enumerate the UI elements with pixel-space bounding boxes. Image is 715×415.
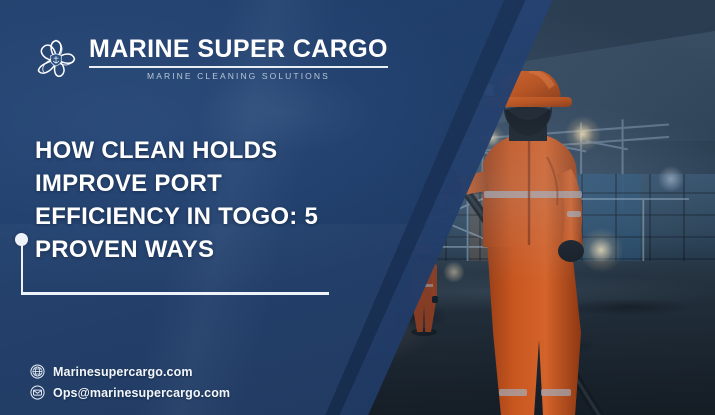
- accent-horizontal-line: [21, 292, 329, 295]
- envelope-icon: [30, 385, 45, 400]
- contact-email[interactable]: Ops@marinesupercargo.com: [30, 385, 230, 400]
- brand-name: MARINE SUPER CARGO: [89, 36, 388, 62]
- brand-underline: [89, 66, 388, 68]
- headline-line: HOW CLEAN HOLDS: [35, 134, 355, 167]
- banner-content: MARINE SUPER CARGO MARINE CLEANING SOLUT…: [0, 0, 715, 415]
- headline-line: PROVEN WAYS: [35, 233, 355, 266]
- contact-website[interactable]: Marinesupercargo.com: [30, 364, 230, 379]
- blog-header-banner: MARINE SUPER CARGO MARINE CLEANING SOLUT…: [0, 0, 715, 415]
- globe-icon: [30, 364, 45, 379]
- page-title: HOW CLEAN HOLDS IMPROVE PORT EFFICIENCY …: [35, 134, 355, 266]
- rope-knot-rosette-icon: [34, 37, 78, 81]
- accent-vertical-line: [21, 244, 24, 294]
- contact-info: Marinesupercargo.com Ops@marinesupercarg…: [30, 364, 230, 400]
- headline-line: EFFICIENCY IN TOGO: 5: [35, 200, 355, 233]
- logo-wordmark: MARINE SUPER CARGO MARINE CLEANING SOLUT…: [89, 36, 388, 81]
- website-label: Marinesupercargo.com: [53, 365, 193, 379]
- email-label: Ops@marinesupercargo.com: [53, 386, 230, 400]
- headline-line: IMPROVE PORT: [35, 167, 355, 200]
- brand-logo[interactable]: MARINE SUPER CARGO MARINE CLEANING SOLUT…: [34, 36, 388, 81]
- brand-tagline: MARINE CLEANING SOLUTIONS: [89, 71, 388, 81]
